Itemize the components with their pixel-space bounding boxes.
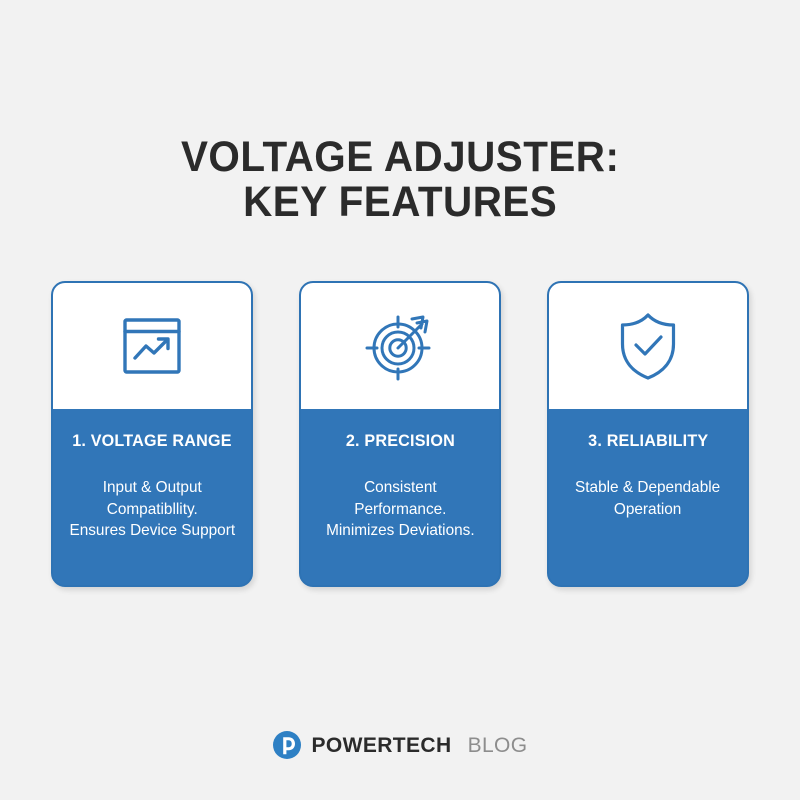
title-line-1: VOLTAGE ADJUSTER: [181, 135, 619, 180]
card-title: 1. VOLTAGE RANGE [72, 431, 231, 451]
card-body: 3. RELIABILITY Stable & Dependable Opera… [549, 409, 747, 585]
card-title: 3. RELIABILITY [588, 431, 708, 451]
powertech-p-circle-logo-icon [272, 730, 302, 760]
target-bullseye-arrow-icon [365, 311, 435, 381]
chart-window-trending-up-icon [119, 313, 185, 379]
card-body: 1. VOLTAGE RANGE Input & Output Compatib… [53, 409, 251, 585]
card-body: 2. PRECISION Consistent Performance. Min… [301, 409, 499, 585]
title-line-2: KEY FEATURES [181, 180, 619, 225]
infographic-poster: VOLTAGE ADJUSTER: KEY FEATURES 1. VOLTAG… [0, 0, 800, 800]
feature-card-voltage-range[interactable]: 1. VOLTAGE RANGE Input & Output Compatib… [51, 281, 253, 587]
footer-brand-sub: BLOG [468, 735, 528, 756]
page-title: VOLTAGE ADJUSTER: KEY FEATURES [167, 135, 633, 224]
footer-branding: POWERTECH BLOG [0, 730, 800, 760]
feature-card-reliability[interactable]: 3. RELIABILITY Stable & Dependable Opera… [547, 281, 749, 587]
card-icon-area [301, 283, 499, 409]
feature-card-precision[interactable]: 2. PRECISION Consistent Performance. Min… [299, 281, 501, 587]
shield-check-icon [615, 310, 681, 382]
card-description: Stable & Dependable Operation [575, 477, 720, 520]
card-title: 2. PRECISION [345, 431, 454, 451]
card-description: Consistent Performance. Minimizes Deviat… [326, 477, 475, 541]
card-description: Input & Output Compatibllity. Ensures De… [69, 477, 235, 541]
card-icon-area [549, 283, 747, 409]
footer-brand-name: POWERTECH [311, 735, 451, 756]
feature-cards-row: 1. VOLTAGE RANGE Input & Output Compatib… [51, 281, 749, 587]
card-icon-area [53, 283, 251, 409]
